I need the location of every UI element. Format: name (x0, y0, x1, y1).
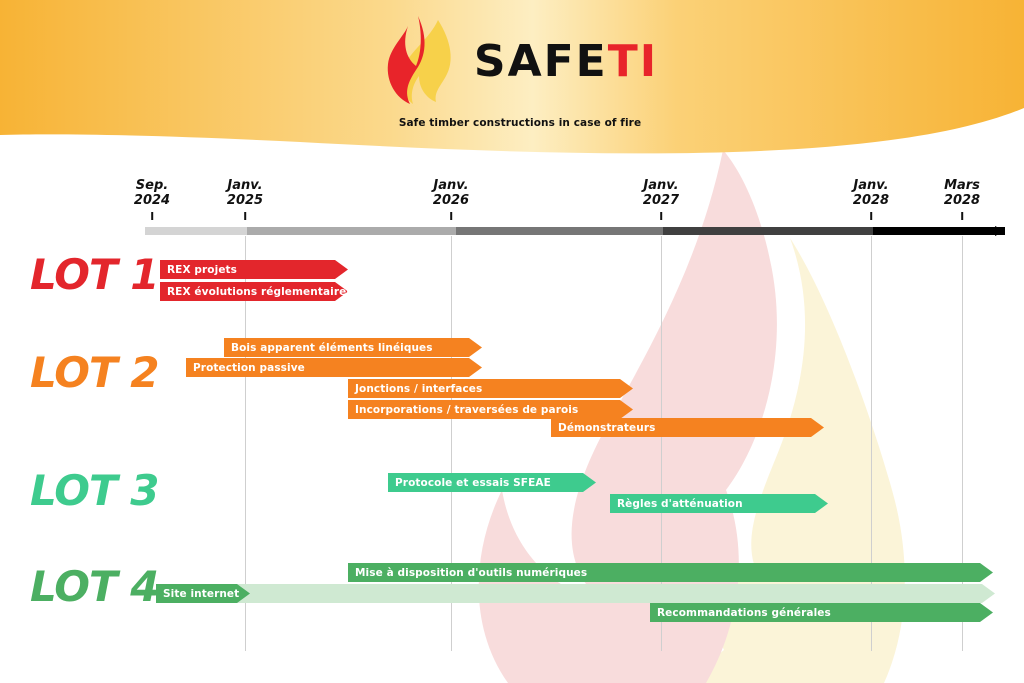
task-label: Protection passive (186, 362, 305, 374)
task-label: Démonstrateurs (551, 422, 655, 434)
axis-tick-mark (244, 212, 246, 220)
task-label: REX projets (160, 264, 237, 276)
axis-tick-year: 2025 (227, 193, 263, 208)
task-bar[interactable]: Recommandations générales (650, 603, 993, 622)
timeline-infographic: SAFETI Safe timber constructions in case… (0, 0, 1024, 683)
task-label: Site internet (156, 588, 239, 600)
task-bar[interactable]: Protocole et essais SFEAE (388, 473, 596, 492)
task-bar[interactable]: Règles d'atténuation (610, 494, 828, 513)
axis-tick-year: 2024 (134, 193, 170, 208)
task-bar[interactable]: REX projets (160, 260, 348, 279)
axis-tick-mark (151, 212, 153, 220)
task-bar[interactable]: Site internet (156, 584, 250, 603)
axis-tick-year: 2026 (433, 193, 469, 208)
task-label: Incorporations / traversées de parois (348, 404, 578, 416)
timeline-segment (456, 227, 663, 235)
timeline-segment (873, 227, 1005, 235)
task-bar[interactable]: Incorporations / traversées de parois (348, 400, 633, 419)
axis-tick-year: 2027 (643, 193, 679, 208)
lot-label-4: LOT 4 (30, 562, 158, 611)
axis-tick-label: Janv.2028 (853, 178, 889, 209)
axis-tick-month: Janv. (853, 178, 889, 193)
logo-row: SAFETI (382, 14, 658, 110)
task-label: Jonctions / interfaces (348, 383, 482, 395)
task-label: Bois apparent éléments linéiques (224, 342, 433, 354)
task-label: REX évolutions réglementaires (160, 286, 353, 298)
axis-tick-mark (961, 212, 963, 220)
lot-label-2: LOT 2 (30, 348, 158, 397)
task-bar[interactable]: Mise à disposition d'outils numériques (348, 563, 993, 582)
lot-label-3: LOT 3 (30, 466, 158, 515)
flame-icon (382, 14, 468, 110)
logo-safe-text: SAFE (474, 36, 608, 87)
task-bar[interactable]: REX évolutions réglementaires (160, 282, 348, 301)
timeline-segment (247, 227, 456, 235)
axis-tick-mark (660, 212, 662, 220)
axis-tick-label: Janv.2027 (643, 178, 679, 209)
axis-tick-mark (870, 212, 872, 220)
axis-tick-label: Janv.2026 (433, 178, 469, 209)
axis-tick-month: Janv. (227, 178, 263, 193)
task-bar[interactable]: Démonstrateurs (551, 418, 824, 437)
logo-ti-text: TI (608, 36, 658, 87)
axis-tick-month: Janv. (433, 178, 469, 193)
axis-tick-month: Sep. (134, 178, 170, 193)
logo: SAFETI Safe timber constructions in case… (390, 14, 650, 139)
timeline-segment (663, 227, 873, 235)
task-bar[interactable]: Protection passive (186, 358, 482, 377)
task-label: Protocole et essais SFEAE (388, 477, 551, 489)
axis-tick-month: Janv. (643, 178, 679, 193)
axis-tick-year: 2028 (853, 193, 889, 208)
task-label: Mise à disposition d'outils numériques (348, 567, 587, 579)
axis-tick-label: Mars2028 (944, 178, 980, 209)
axis-tick-year: 2028 (944, 193, 980, 208)
axis-tick-label: Janv.2025 (227, 178, 263, 209)
logo-tagline: Safe timber constructions in case of fir… (399, 117, 641, 129)
lot-label-1: LOT 1 (30, 250, 158, 299)
task-label: Recommandations générales (650, 607, 831, 619)
axis-tick-label: Sep.2024 (134, 178, 170, 209)
task-bar-tail (156, 584, 995, 603)
timeline-axis-bar (145, 226, 1005, 236)
logo-wordmark: SAFETI (474, 40, 658, 84)
task-bar[interactable]: Jonctions / interfaces (348, 379, 633, 398)
axis-tick-mark (450, 212, 452, 220)
axis-tick-month: Mars (944, 178, 980, 193)
timeline-segment (145, 227, 247, 235)
task-label: Règles d'atténuation (610, 498, 743, 510)
task-bar[interactable]: Bois apparent éléments linéiques (224, 338, 482, 357)
